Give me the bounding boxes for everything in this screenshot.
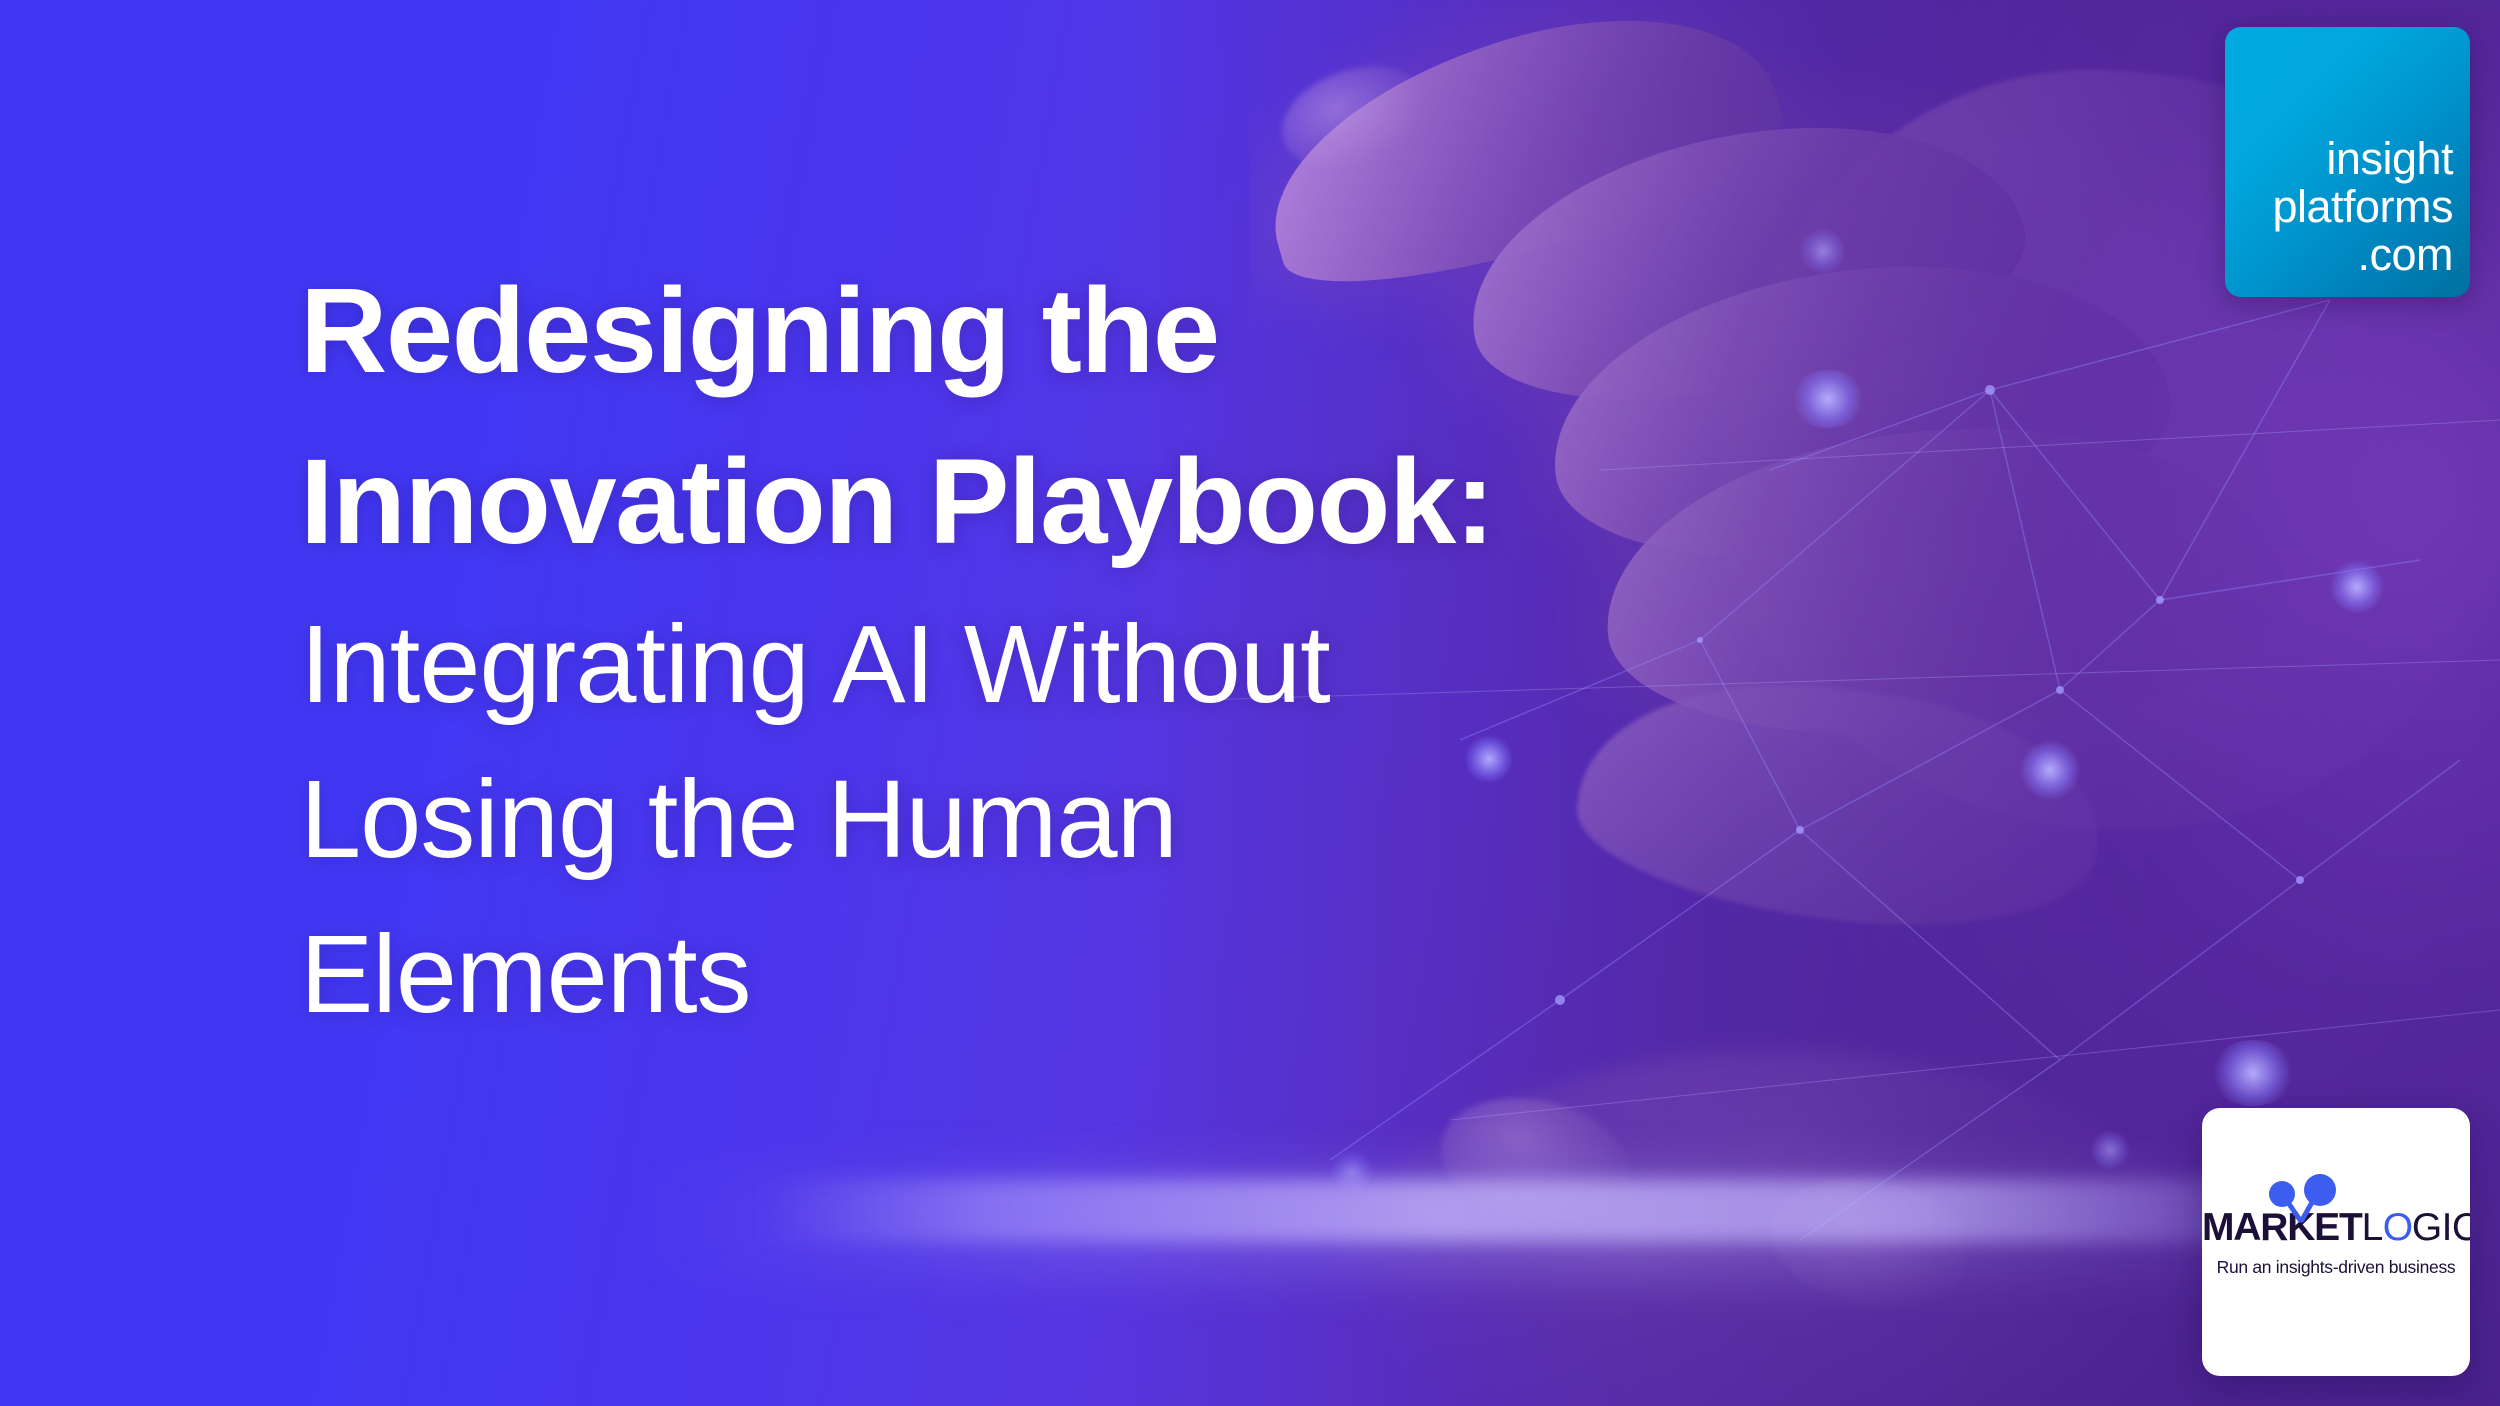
- market-logic-logotype: MARKETLOGIC: [2202, 1206, 2470, 1250]
- molecule-node-icon: [2266, 1176, 2338, 1234]
- insight-platforms-logo[interactable]: insight platforms .com: [2225, 27, 2470, 297]
- presentation-slide: Redesigning the Innovation Playbook: Int…: [0, 0, 2500, 1406]
- insight-platforms-line-3: .com: [2272, 231, 2453, 279]
- market-logic-word-gic: GIC: [2412, 1206, 2470, 1249]
- insight-platforms-line-1: insight: [2272, 135, 2453, 183]
- page-subtitle: Integrating AI Without Losing the Human …: [300, 587, 2060, 1052]
- market-logic-word-l: L: [2362, 1206, 2383, 1249]
- subheadline-line-2: Losing the Human: [300, 742, 2060, 897]
- market-logic-logo-card[interactable]: MARKETLOGIC Run an insights-driven busin…: [2202, 1108, 2470, 1376]
- page-title: Redesigning the Innovation Playbook:: [300, 245, 2060, 587]
- headline-line-1: Redesigning the: [300, 245, 2060, 416]
- insight-platforms-logo-text: insight platforms .com: [2272, 135, 2453, 279]
- market-logic-logo: MARKETLOGIC Run an insights-driven busin…: [2202, 1206, 2470, 1278]
- insight-platforms-line-2: platforms: [2272, 183, 2453, 231]
- market-logic-tagline: Run an insights-driven business: [2202, 1256, 2470, 1278]
- market-logic-letter-o: O: [2383, 1206, 2412, 1249]
- headline-line-2: Innovation Playbook:: [300, 416, 2060, 587]
- subheadline-line-3: Elements: [300, 897, 2060, 1052]
- title-block: Redesigning the Innovation Playbook: Int…: [300, 245, 2060, 1052]
- subheadline-line-1: Integrating AI Without: [300, 587, 2060, 742]
